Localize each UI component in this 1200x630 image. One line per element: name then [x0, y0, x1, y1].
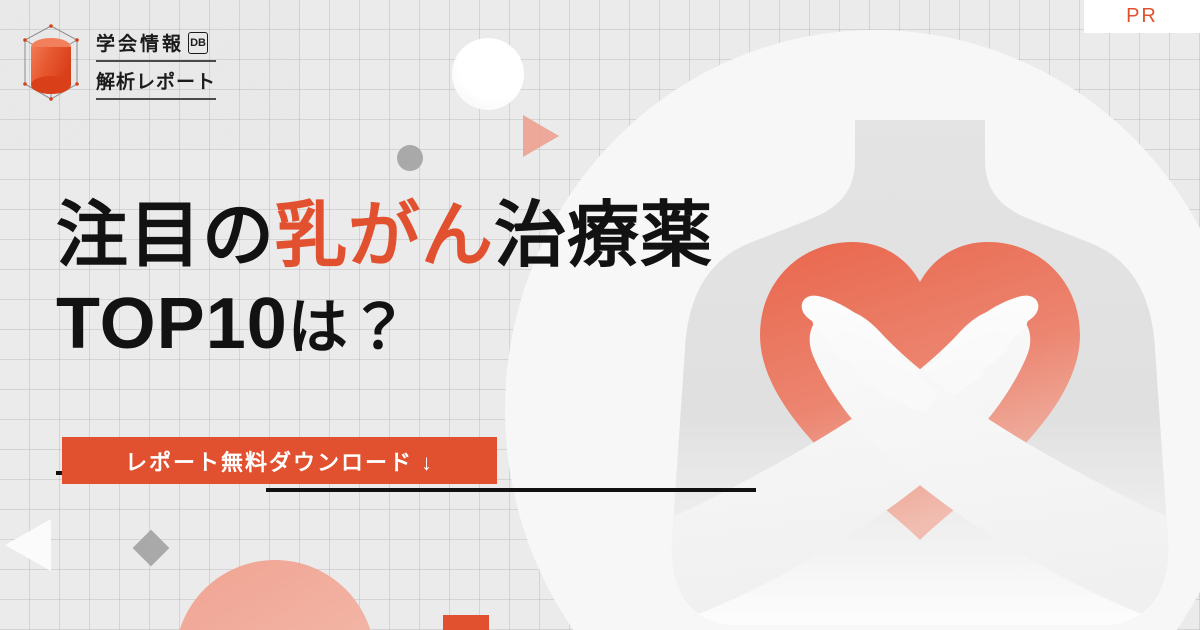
pr-badge-label: PR [1126, 5, 1158, 28]
pr-badge: PR [1084, 0, 1200, 33]
headline-line-1: 注目の乳がん治療薬 [56, 198, 756, 274]
logo-line-secondary: 解析レポート [96, 64, 216, 100]
decoration-triangle-pink [523, 115, 559, 157]
promo-banner: PR [0, 0, 1200, 630]
headline-line2-suffix: は？ [288, 294, 410, 361]
decoration-circle-gray-small [397, 145, 423, 171]
db-chip-icon: DB [188, 32, 208, 54]
download-report-button[interactable]: レポート無料ダウンロード ↓ [62, 437, 497, 484]
decoration-square-orange [443, 615, 489, 630]
site-logo[interactable]: 学会情報 DB 解析レポート [20, 22, 216, 104]
logo-line-primary-text: 学会情報 [96, 29, 184, 56]
headline-underline-1 [266, 488, 756, 492]
logo-wordmark: 学会情報 DB 解析レポート [96, 26, 216, 100]
headline-line2-main: TOP10 [56, 284, 288, 364]
logo-line-primary: 学会情報 DB [96, 26, 216, 62]
breast-cancer-awareness-illustration [640, 120, 1200, 630]
headline-block: 注目の乳がん治療薬 TOP10は？ [56, 198, 756, 363]
database-cylinder-icon [20, 22, 82, 104]
decoration-circle-white-large [452, 38, 524, 110]
headline-line1-after: 治療薬 [494, 196, 713, 276]
headline-line-2: TOP10は？ [56, 286, 756, 362]
headline-line1-before: 注目の [56, 196, 275, 276]
decoration-triangle-white [5, 519, 51, 571]
download-report-button-label: レポート無料ダウンロード ↓ [125, 445, 434, 477]
headline-line1-accent: 乳がん [275, 196, 494, 276]
